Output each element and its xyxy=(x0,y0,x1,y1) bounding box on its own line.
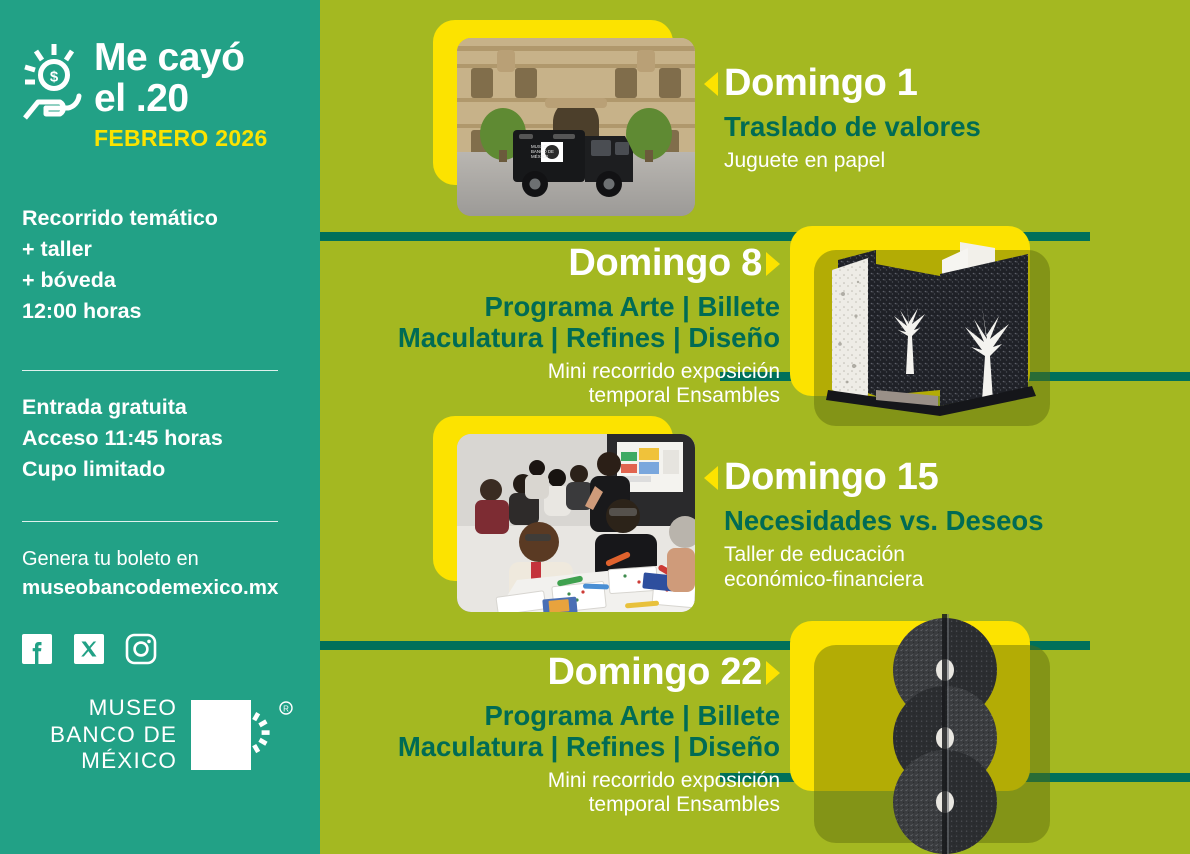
facebook-icon[interactable] xyxy=(20,632,54,666)
event-text-4: Domingo 22 Programa Arte | Billete Macul… xyxy=(330,653,780,817)
event-detail: Taller de educación xyxy=(724,543,1044,567)
social-links xyxy=(20,632,158,666)
poster-root: $ Me cayó el .20 FEBRERO 2026 Recorrido … xyxy=(0,0,1190,854)
triangle-left-icon xyxy=(704,466,718,490)
ticket-lead: Genera tu boleto en xyxy=(22,546,312,574)
event-detail: temporal Ensambles xyxy=(330,793,780,817)
event-subject: Traslado de valores xyxy=(724,111,981,142)
event-subject: Programa Arte | Billete xyxy=(330,291,780,322)
event-detail: económico-financiera xyxy=(724,568,1044,592)
triangle-right-icon xyxy=(766,661,780,685)
info-line: + taller xyxy=(22,234,298,265)
museum-logo: MUSEO BANCO DE MÉXICO xyxy=(50,695,299,775)
brand-title-line1: Me cayó xyxy=(94,38,268,79)
event-photo-1: MUSEO BANCO DE MÉXICO xyxy=(457,38,695,216)
event-card-4: Domingo 22 Programa Arte | Billete Macul… xyxy=(320,641,1190,854)
event-text-1: Domingo 1 Traslado de valores Juguete en… xyxy=(704,64,981,174)
info-secondary: Entrada gratuita Acceso 11:45 horas Cupo… xyxy=(22,392,298,485)
brand-date: FEBRERO 2026 xyxy=(94,125,268,152)
info-line: Acceso 11:45 horas xyxy=(22,423,298,454)
event-photo-3 xyxy=(457,434,695,612)
sidebar: $ Me cayó el .20 FEBRERO 2026 Recorrido … xyxy=(0,0,320,854)
event-day: Domingo 15 xyxy=(724,458,938,498)
ticket-block: Genera tu boleto en museobancodemexico.m… xyxy=(22,546,312,602)
event-subject: Necesidades vs. Deseos xyxy=(724,505,1044,536)
logo-mark-icon: R xyxy=(191,696,299,774)
event-subject: Programa Arte | Billete xyxy=(330,700,780,731)
svg-text:$: $ xyxy=(50,69,59,86)
ticket-url[interactable]: museobancodemexico.mx xyxy=(22,574,312,602)
event-subject: Maculatura | Refines | Diseño xyxy=(330,731,780,762)
logo-trademark: R xyxy=(283,704,289,713)
info-line: 12:00 horas xyxy=(22,296,298,327)
info-line: + bóveda xyxy=(22,265,298,296)
sidebar-divider xyxy=(22,370,278,371)
events-column: MUSEO BANCO DE MÉXICO Domingo 1 Traslado… xyxy=(320,0,1190,854)
logo-line-2: BANCO DE xyxy=(50,722,177,749)
info-line: Entrada gratuita xyxy=(22,392,298,423)
info-line: Recorrido temático xyxy=(22,203,298,234)
event-detail: Juguete en papel xyxy=(724,149,981,173)
event-card-3: Domingo 15 Necesidades vs. Deseos Taller… xyxy=(320,390,1190,640)
event-text-2: Domingo 8 Programa Arte | Billete Macula… xyxy=(330,244,780,408)
logo-wordmark: MUSEO BANCO DE MÉXICO xyxy=(50,695,177,775)
event-subject: Maculatura | Refines | Diseño xyxy=(330,322,780,353)
event-card-1: MUSEO BANCO DE MÉXICO Domingo 1 Traslado… xyxy=(320,0,1190,232)
event-day: Domingo 8 xyxy=(568,244,762,284)
brand-block: $ Me cayó el .20 FEBRERO 2026 xyxy=(22,38,268,152)
instagram-icon[interactable] xyxy=(124,632,158,666)
logo-line-1: MUSEO xyxy=(50,695,177,722)
sidebar-divider xyxy=(22,521,278,522)
event-day: Domingo 22 xyxy=(548,653,762,693)
event-detail: Mini recorrido exposición xyxy=(330,769,780,793)
triangle-left-icon xyxy=(704,72,718,96)
event-text-3: Domingo 15 Necesidades vs. Deseos Taller… xyxy=(704,458,1044,592)
info-line: Cupo limitado xyxy=(22,454,298,485)
svg-text:MÉXICO: MÉXICO xyxy=(531,154,549,159)
info-primary: Recorrido temático + taller + bóveda 12:… xyxy=(22,203,298,327)
event-artwork-4 xyxy=(830,614,1060,854)
event-day: Domingo 1 xyxy=(724,64,918,104)
brand-title-line2: el .20 xyxy=(94,79,268,120)
x-twitter-icon[interactable] xyxy=(72,632,106,666)
triangle-right-icon xyxy=(766,252,780,276)
logo-line-3: MÉXICO xyxy=(50,748,177,775)
event-detail: Mini recorrido exposición xyxy=(330,360,780,384)
coin-in-hand-icon: $ xyxy=(22,42,84,124)
